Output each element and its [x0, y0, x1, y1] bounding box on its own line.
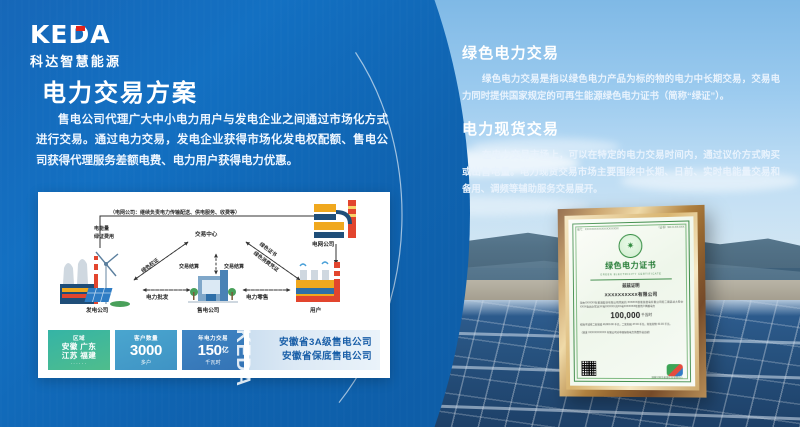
certificate-subtitle: GREEN ELECTRICITY CERTIFICATE — [577, 272, 686, 277]
diagram-node-generator: 发电公司 — [86, 306, 108, 314]
green-electricity-certificate: 编号：XXXXXXXXXXXXXXXXXXXX （证书）NO.X-XX-XXX … — [568, 216, 695, 386]
grid-company-illustration — [314, 200, 356, 238]
logo-accent-bar — [76, 26, 85, 31]
stats-strip: 区域 安徽 广东 江苏 福建 ...... 客户数量 3000 多户 年电力交易… — [48, 330, 380, 370]
section-title: 绿色电力交易 — [462, 42, 780, 63]
diagram-edge-settle-left: 交易结算 — [179, 263, 199, 270]
stat-value-unit: 亿 — [222, 347, 229, 354]
diagram-top-note: （电网公司：继续负责电力传输配送、供电服务、收费等） — [110, 209, 240, 216]
certificate-header-right: （证书）NO.X-XX-XXX — [657, 225, 684, 230]
banner-watermark: KEDA — [231, 329, 253, 387]
stat-caption: 区域 — [73, 334, 85, 342]
stat-region-more: ...... — [71, 360, 88, 366]
certificate-paragraph: 现由XXXXXX新能源股份有限公司所属的 XXXXXX新能源发电有限公司的二期选… — [577, 300, 686, 310]
logo-wordmark-text: KEDA — [30, 20, 111, 49]
diagram-center-title: 交易中心 — [195, 230, 217, 238]
diagram-edge-retail: 电力零售 — [246, 293, 268, 301]
poster-canvas: KEDA 科达智慧能源 电力交易方案 售电公司代理广大中小电力用户与发电企业之间… — [0, 0, 800, 427]
qr-code-icon — [581, 361, 596, 376]
stat-card-customers: 客户数量 3000 多户 — [115, 330, 177, 370]
stat-value-number: 150 — [198, 342, 222, 359]
stat-value-number: 3000 — [130, 342, 162, 359]
stat-value: 150亿 — [198, 343, 229, 358]
certificate-seal-icon: ✷ — [618, 234, 642, 259]
section-body: 绿色电力交易是指以绿色电力产品为标的物的电力中长期交易，交易电力同时提供国家规定… — [462, 70, 780, 104]
diagram-node-user: 用户 — [310, 306, 321, 314]
banner-line-2: 安徽省保底售电公司 — [279, 350, 372, 364]
certificate-heading: 兹兹证明 — [577, 282, 686, 290]
stat-subtext: 千瓦时 — [205, 359, 221, 366]
certificate-header-left: 编号：XXXXXXXXXXXXXXXXXXXX — [577, 226, 619, 231]
diagram-node-retailer: 售电公司 — [197, 306, 219, 314]
qualification-banner: KEDA 安徽省3A级售电公司 安徽省保底售电公司 — [249, 330, 380, 370]
banner-line-1: 安徽省3A级售电公司 — [279, 336, 372, 350]
stat-subtext: 多户 — [141, 359, 151, 366]
certificate-title: 绿色电力证书 — [577, 259, 686, 272]
certificate-paragraph-2: 相当于减排二氧化碳 49,800.00 千克，二氧化硫 47.00 千克，氮氧化… — [577, 323, 686, 328]
certificate-divider — [591, 278, 672, 280]
stat-caption: 客户数量 — [134, 334, 158, 342]
certificate-content: 编号：XXXXXXXXXXXXXXXXXXXX （证书）NO.X-XX-XXX … — [576, 225, 687, 379]
leaf-icon: ✷ — [627, 241, 635, 250]
page-lead-paragraph: 售电公司代理广大中小电力用户与发电企业之间通过市场化方式进行交易。通过电力交易，… — [36, 110, 388, 171]
section-spot-trading: 电力现货交易 在电力交易市场上，可以在特定的电力交易时间内，通过议价方式购买或出… — [462, 118, 780, 197]
stat-card-region: 区域 安徽 广东 江苏 福建 ...... — [48, 330, 110, 370]
certificate-issuer: 国家可再生能源信息管理中心 — [652, 375, 683, 379]
section-title: 电力现货交易 — [462, 118, 780, 139]
section-body: 在电力交易市场上，可以在特定的电力交易时间内，通过议价方式购买或出售电量。电力现… — [462, 146, 780, 197]
stat-region-line-2: 江苏 福建 — [62, 352, 96, 361]
power-trading-diagram: （电网公司：继续负责电力传输配送、供电服务、收费等） 电能量 绿证费用 交易中心… — [38, 192, 390, 324]
stat-caption: 年电力交易 — [198, 334, 228, 342]
brand-logo: KEDA 科达智慧能源 — [30, 22, 121, 70]
diagram-left-note-2: 绿证费用 — [94, 233, 114, 240]
logo-subtitle: 科达智慧能源 — [30, 51, 121, 70]
certificate-amount: 100,000千瓦时 — [577, 311, 686, 321]
logo-wordmark: KEDA — [30, 22, 121, 47]
certificate-amount-number: 100,000 — [610, 311, 640, 320]
certificate-footer — [581, 361, 682, 376]
user-illustration — [296, 262, 340, 302]
banner-text: 安徽省3A级售电公司 安徽省保底售电公司 — [279, 336, 372, 364]
diagram-edge-settle-right: 交易结算 — [224, 263, 244, 270]
certificate-company: XXXXXXXXXX有限公司 — [577, 291, 686, 298]
diagram-edge-wholesale: 电力批发 — [146, 293, 168, 301]
retailer-illustration — [188, 270, 238, 303]
page-title: 电力交易方案 — [42, 73, 198, 108]
diagram-node-grid: 电网公司 — [312, 240, 334, 248]
diagram-card: （电网公司：继续负责电力传输配送、供电服务、收费等） 电能量 绿证费用 交易中心… — [38, 192, 390, 378]
certificate-frame: 编号：XXXXXXXXXXXXXXXXXXXX （证书）NO.X-XX-XXX … — [558, 205, 707, 398]
diagram-left-note-1: 电能量 — [94, 225, 109, 232]
section-green-power-trading: 绿色电力交易 绿色电力交易是指以绿色电力产品为标的物的电力中长期交易，交易电力同… — [462, 42, 780, 104]
stat-value: 3000 — [130, 343, 162, 358]
generator-illustration — [60, 252, 130, 307]
certificate-paragraph-3: （颁发 XXXXXXXXXXX 有限公司对中国绿色电力消费作出贡献） — [577, 330, 686, 335]
certificate-amount-unit: 千瓦时 — [641, 313, 652, 317]
